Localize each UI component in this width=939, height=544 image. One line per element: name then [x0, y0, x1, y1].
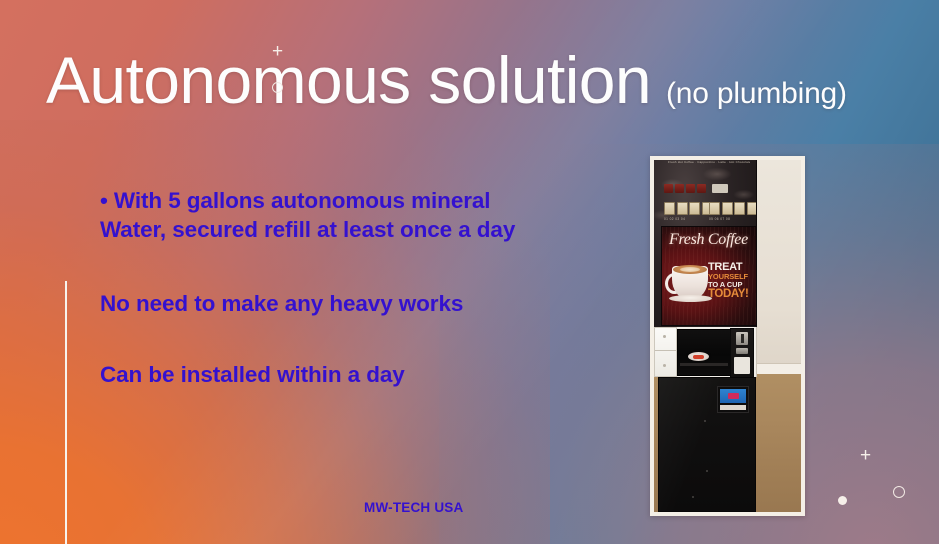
cabinet-screw [692, 496, 694, 498]
selection-button [734, 202, 745, 215]
selection-button [677, 202, 688, 215]
machine-header-caption: Fresh Hot Coffee · Cappuccino · Latte · … [668, 160, 750, 164]
machine-dispense-section [653, 327, 757, 377]
selection-label-right: 05 06 07 08 [709, 217, 730, 221]
poster-tagline-line-4: TODAY! [708, 289, 752, 301]
spacer [100, 245, 640, 289]
footer-brand-note: MW-TECH USA [364, 500, 463, 515]
selection-button [747, 202, 758, 215]
machine-side-access-panel [654, 327, 677, 377]
selection-button [664, 202, 675, 215]
cabinet-screw [704, 420, 706, 422]
payment-column [730, 328, 754, 378]
machine-selection-buttons [654, 202, 756, 218]
bullet-3: Can be installed within a day [100, 360, 640, 389]
price-cell [664, 184, 673, 193]
price-cell [675, 184, 684, 193]
slide-canvas: Autonomous solution (no plumbing) + + • … [0, 0, 939, 544]
price-cell [697, 184, 706, 193]
panel-seam [655, 350, 676, 351]
bill-acceptor-slot [736, 348, 748, 354]
price-readout [712, 184, 728, 193]
cabinet-screw [706, 470, 708, 472]
selection-group-right [709, 202, 757, 215]
bullet-1-line-1: • With 5 gallons autonomous mineral [100, 186, 640, 215]
cup-dispense-bay [677, 329, 731, 376]
machine-price-display [664, 183, 748, 194]
bullet-1-line-2: Water, secured refill at least once a da… [100, 215, 640, 244]
machine-lower-cabinet [658, 377, 756, 512]
dispensed-cup [688, 352, 709, 361]
spacer [100, 318, 640, 360]
plus-icon: + [860, 446, 871, 465]
payment-instructions-label [734, 357, 750, 374]
card-reader [717, 386, 749, 413]
cup-saucer [669, 295, 712, 302]
cup-logo [693, 355, 704, 359]
title-main-text: Autonomous solution [46, 47, 651, 113]
selection-button [689, 202, 700, 215]
page-title: Autonomous solution (no plumbing) [46, 47, 847, 113]
coffee-vending-machine-photo: Fresh Hot Coffee · Cappuccino · Latte · … [650, 156, 805, 516]
coffee-cup-illustration [668, 260, 713, 303]
selection-button [722, 202, 733, 215]
dispense-shelf [680, 363, 728, 366]
bullet-2: No need to make any heavy works [100, 289, 640, 318]
selection-button [709, 202, 720, 215]
poster-title-text: Fresh Coffee [669, 231, 748, 249]
poster-tagline: TREAT YOURSELF TO A CUP TODAY! [708, 262, 752, 300]
selection-label-left: 01 02 03 04 [664, 217, 685, 221]
machine-header-panel: Fresh Hot Coffee · Cappuccino · Latte · … [653, 156, 757, 329]
card-reader-strip [720, 405, 746, 410]
card-reader-logo [728, 393, 739, 399]
title-subtitle-text: (no plumbing) [666, 79, 847, 109]
panel-screw [663, 364, 666, 367]
fresh-coffee-poster: Fresh Coffee TREAT YOURSELF TO A CUP TOD… [661, 226, 757, 326]
vertical-accent-rule [65, 281, 67, 544]
cup-foam-art [680, 267, 700, 272]
dot-icon [838, 496, 847, 505]
selection-group-left [664, 202, 713, 215]
price-cell [686, 184, 695, 193]
body-text-block: • With 5 gallons autonomous mineral Wate… [100, 186, 640, 389]
card-reader-screen [720, 389, 746, 403]
panel-screw [663, 335, 666, 338]
circle-outline-icon [893, 486, 905, 498]
coin-slot [736, 332, 748, 345]
